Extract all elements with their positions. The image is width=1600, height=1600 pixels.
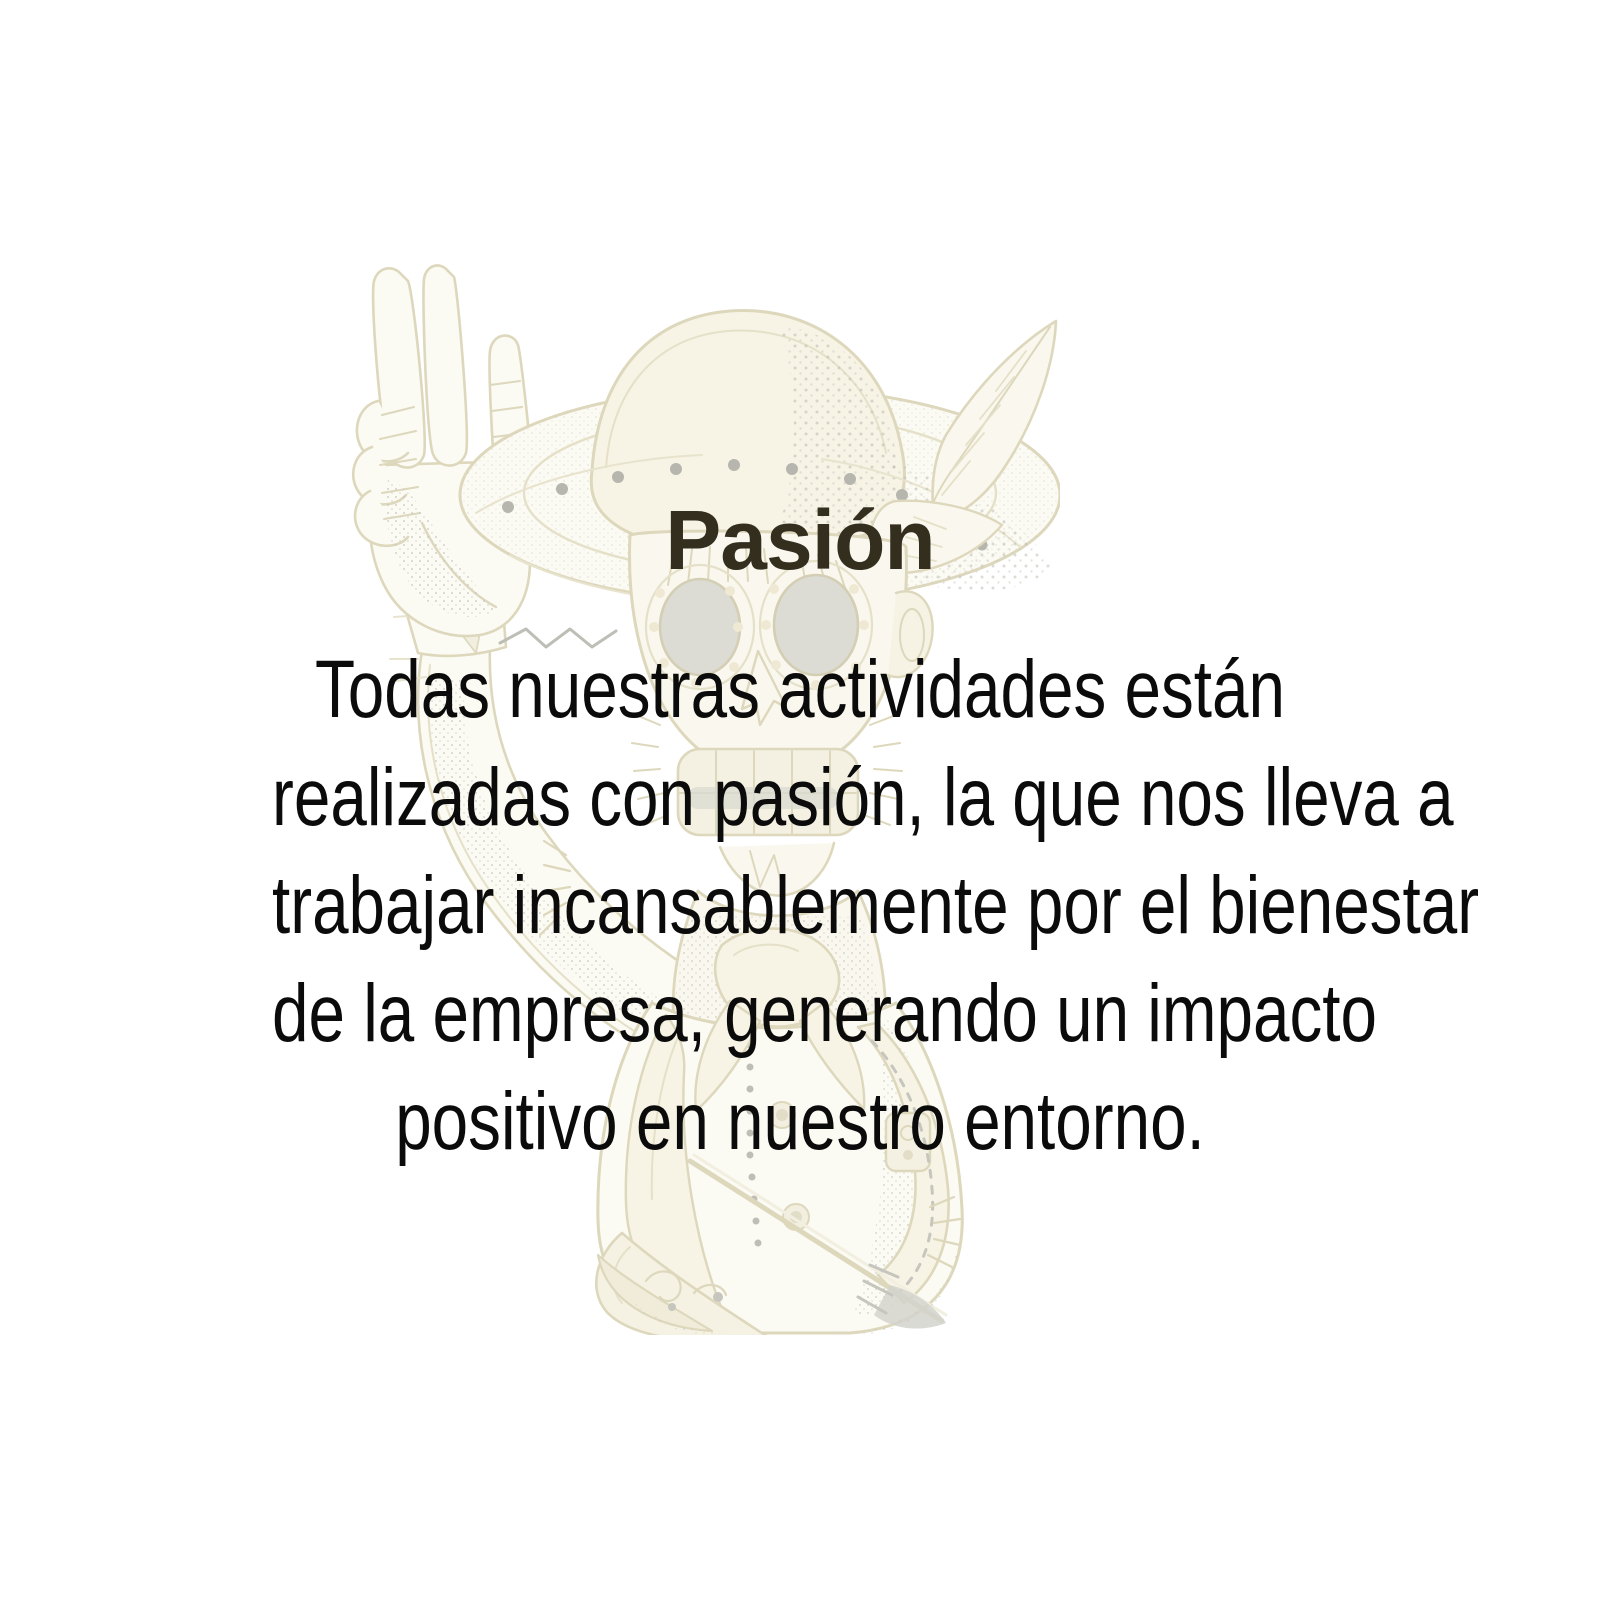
- text-content-block: Pasión Todas nuestras actividades están …: [0, 0, 1600, 1600]
- body-line: positivo en nuestro entorno.: [272, 1068, 1328, 1176]
- poster-canvas: Pasión Todas nuestras actividades están …: [0, 0, 1600, 1600]
- body-line: trabajar incansablemente por el bienesta…: [272, 852, 1328, 960]
- body-paragraph: Todas nuestras actividades están realiza…: [140, 636, 1460, 1176]
- body-line: realizadas con pasión, la que nos lleva …: [272, 744, 1328, 852]
- body-line: Todas nuestras actividades están: [272, 636, 1328, 744]
- page-title: Pasión: [665, 492, 934, 588]
- body-line: de la empresa, generando un impacto: [272, 960, 1328, 1068]
